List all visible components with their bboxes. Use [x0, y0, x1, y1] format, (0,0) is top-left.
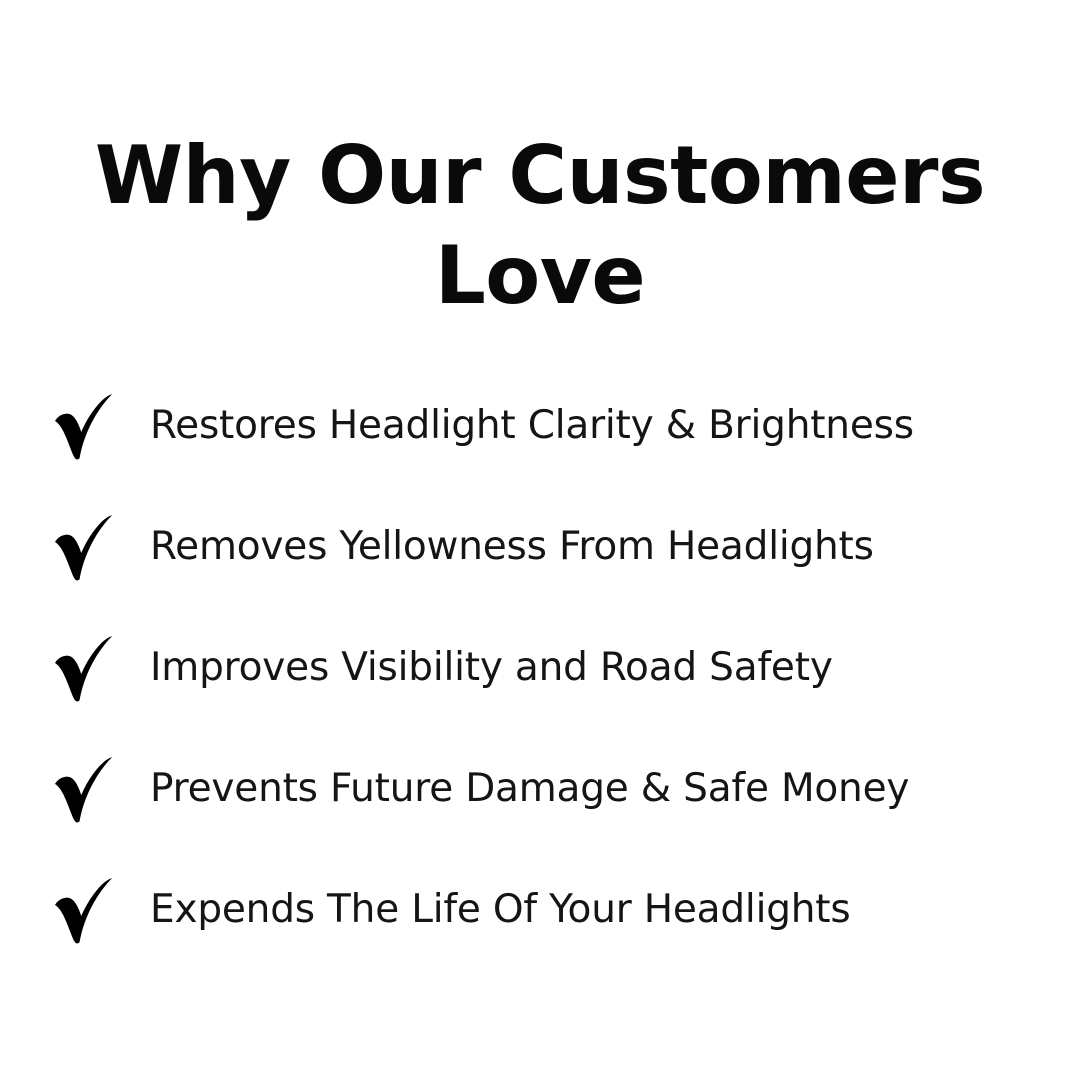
- list-item: Improves Visibility and Road Safety: [48, 608, 1058, 729]
- list-item: Expends The Life Of Your Headlights: [48, 850, 1058, 971]
- benefit-label: Expends The Life Of Your Headlights: [150, 889, 851, 932]
- list-item: Prevents Future Damage & Safe Money: [48, 729, 1058, 850]
- benefit-label: Improves Visibility and Road Safety: [150, 647, 833, 690]
- checkmark-icon: [52, 878, 130, 944]
- checkmark-icon: [52, 515, 130, 581]
- benefit-list: Restores Headlight Clarity & Brightness …: [48, 366, 1058, 971]
- benefit-label: Restores Headlight Clarity & Brightness: [150, 405, 914, 448]
- list-item: Restores Headlight Clarity & Brightness: [48, 366, 1058, 487]
- benefit-label: Removes Yellowness From Headlights: [150, 526, 874, 569]
- benefit-label: Prevents Future Damage & Safe Money: [150, 768, 909, 811]
- checkmark-icon: [52, 636, 130, 702]
- checkmark-icon: [52, 394, 130, 460]
- page-title-line-1: Why Our Customers: [70, 126, 1010, 227]
- checkmark-icon: [52, 757, 130, 823]
- page-title: Why Our Customers Love: [0, 126, 1080, 328]
- page-title-line-2: Love: [70, 226, 1010, 327]
- list-item: Removes Yellowness From Headlights: [48, 487, 1058, 608]
- promo-poster: Why Our Customers Love Restores Headligh…: [0, 0, 1080, 1080]
